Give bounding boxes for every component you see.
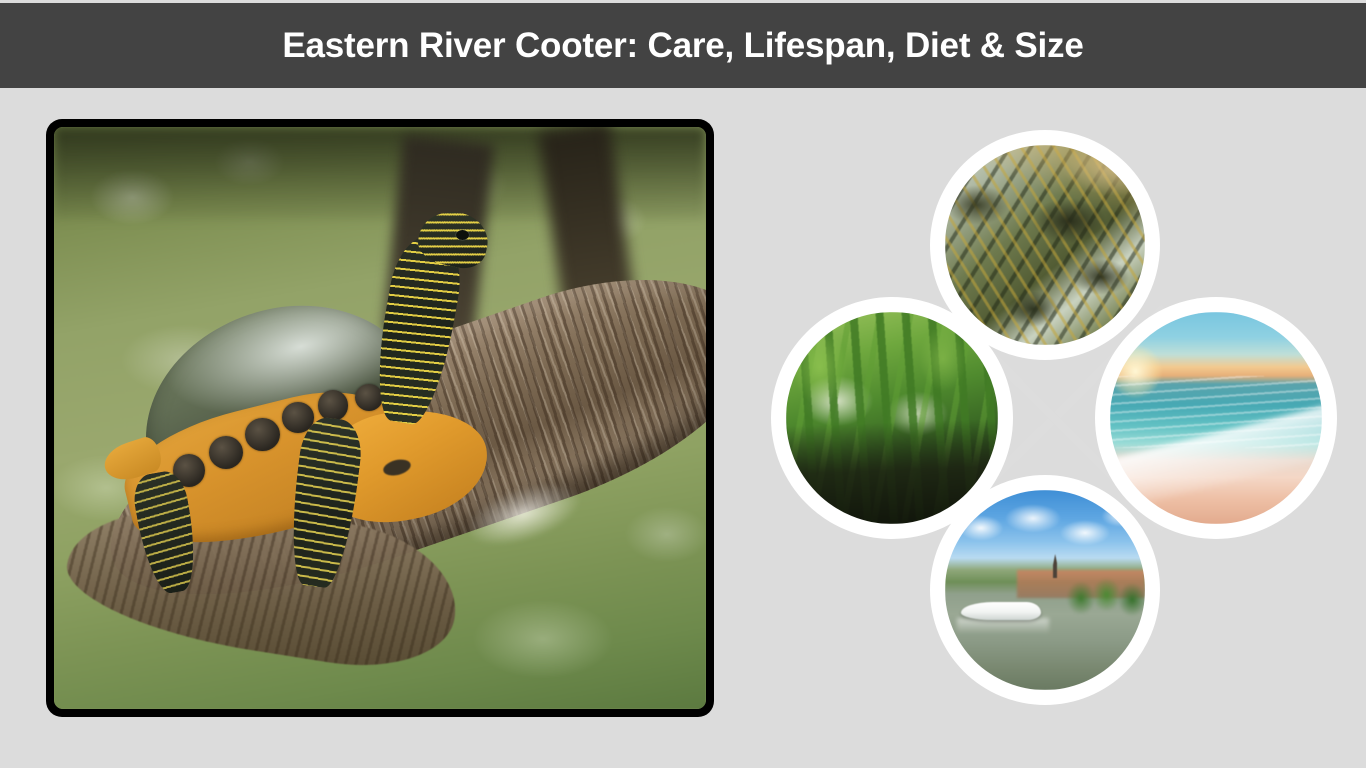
hero-photo-frame xyxy=(46,119,714,717)
hatchlings-in-water-photo xyxy=(945,145,1145,345)
shell-spot xyxy=(245,418,279,451)
shell-spot xyxy=(209,436,243,469)
water-reflection xyxy=(957,618,1049,634)
shell-spot xyxy=(318,390,348,420)
four-circle-photo-collage xyxy=(771,130,1337,706)
page-root: Eastern River Cooter: Care, Lifespan, Di… xyxy=(0,0,1366,768)
river-cruise-photo xyxy=(945,490,1145,690)
riverbank-trees xyxy=(1065,578,1145,618)
church-spire xyxy=(1053,554,1057,578)
header-bar: Eastern River Cooter: Care, Lifespan, Di… xyxy=(0,3,1366,88)
turtle-eye xyxy=(456,230,469,240)
eastern-river-cooter-photo xyxy=(54,127,706,709)
river-cruise-image-art xyxy=(945,490,1145,690)
collage-circle-top[interactable] xyxy=(930,130,1160,360)
turtle-figure xyxy=(132,278,536,581)
page-title: Eastern River Cooter: Care, Lifespan, Di… xyxy=(282,28,1083,63)
collage-circle-bottom[interactable] xyxy=(930,475,1160,705)
hatchlings-image-art xyxy=(945,145,1145,345)
